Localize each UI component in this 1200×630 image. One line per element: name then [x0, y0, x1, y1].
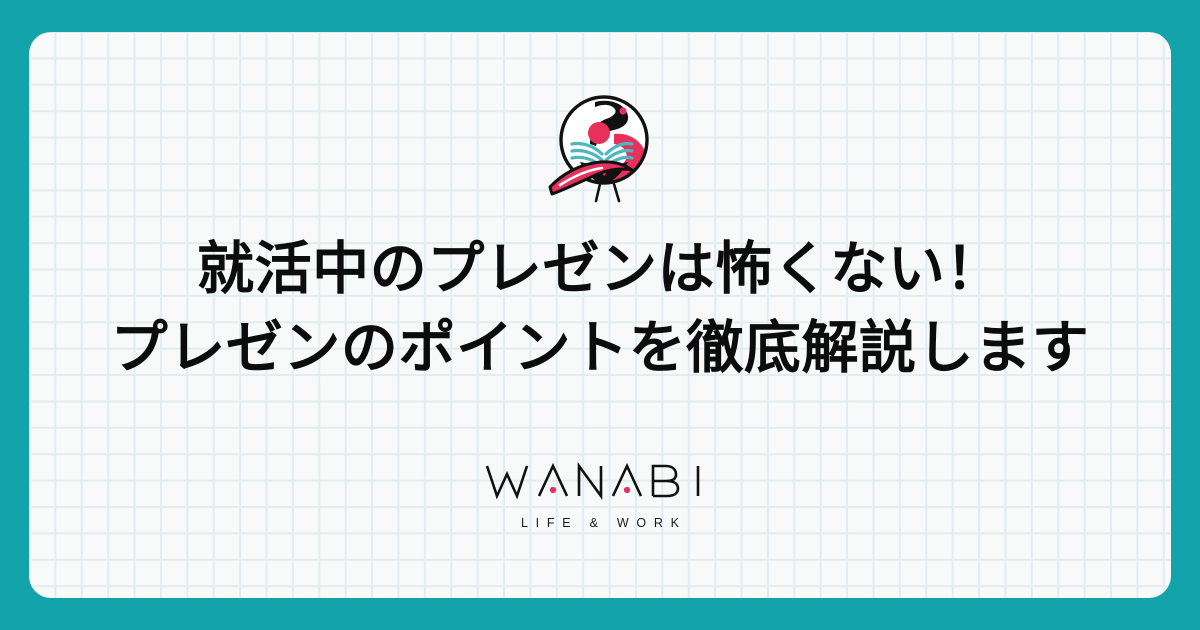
brand-tagline: LIFE & WORK [513, 516, 687, 530]
content-card: 就活中のプレゼンは怖くない！ プレゼンのポイントを徹底解説します [29, 32, 1171, 598]
ogp-canvas: 就活中のプレゼンは怖くない！ プレゼンのポイントを徹底解説します [0, 0, 1200, 630]
wanabi-bird-logo-icon [540, 88, 660, 208]
brand-wordmark: LIFE & WORK [483, 460, 717, 530]
title-line-1: 就活中のプレゼンは怖くない！ [111, 230, 1090, 309]
brand-name [483, 460, 717, 507]
title-line-2: プレゼンのポイントを徹底解説します [111, 309, 1090, 388]
page-title: 就活中のプレゼンは怖くない！ プレゼンのポイントを徹底解説します [111, 230, 1090, 387]
brand-dot-a2 [624, 486, 630, 492]
brand-dot-a1 [550, 486, 556, 492]
